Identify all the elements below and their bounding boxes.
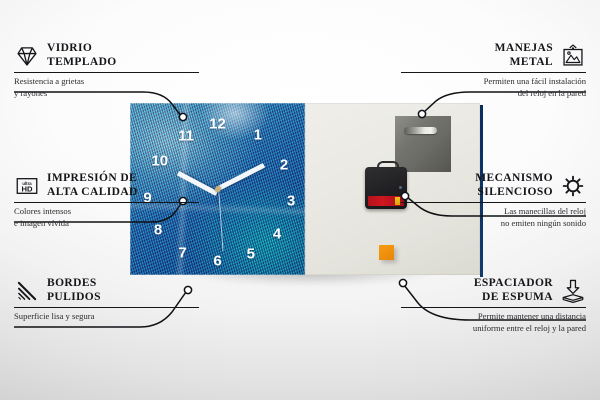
callout-rule	[401, 307, 586, 308]
diamond-icon	[14, 43, 40, 69]
clock-numeral-7: 7	[178, 245, 186, 260]
gear-icon	[560, 173, 586, 199]
callout-desc: Permite mantener una distancia uniforme …	[401, 311, 586, 334]
infographic-canvas: 12 1 2 3 4 5 6 7 8 9 10 11	[0, 0, 600, 400]
callout-espaciador-espuma[interactable]: ESPACIADOR DE ESPUMA Permite mantener un…	[401, 277, 586, 334]
callout-desc: Colores intensos e imagen vívida	[14, 206, 199, 229]
clock-numeral-12: 12	[209, 116, 226, 131]
foam-spacer	[379, 245, 394, 260]
callout-rule	[401, 202, 586, 203]
callout-desc: Permiten una fácil instalación del reloj…	[401, 76, 586, 99]
picture-frame-hook-icon	[560, 43, 586, 69]
mechanism-loop	[377, 161, 399, 172]
callout-rule	[14, 307, 199, 308]
clock-numeral-4: 4	[273, 226, 281, 241]
callout-manejas-metal[interactable]: MANEJAS METAL Permiten una fácil instala…	[401, 42, 586, 99]
callout-head: BORDES PULIDOS	[14, 277, 199, 304]
down-arrow-layer-icon	[560, 278, 586, 304]
callout-head: MANEJAS METAL	[401, 42, 586, 69]
callout-vidrio-templado[interactable]: VIDRIO TEMPLADO Resistencia a grietas y …	[14, 42, 199, 99]
callout-desc: Las manecillas del reloj no emiten ningú…	[401, 206, 586, 229]
ultra-hd-icon: ultra HD	[14, 173, 40, 199]
callout-desc: Superficie lisa y segura	[14, 311, 199, 323]
callout-title: MECANISMO SILENCIOSO	[475, 172, 553, 199]
clock-numeral-2: 2	[280, 157, 288, 172]
clock-numeral-3: 3	[287, 194, 295, 209]
clock-center-cap	[215, 186, 221, 192]
battery-label	[368, 196, 404, 206]
clock-minute-hand	[215, 163, 264, 192]
callout-rule	[14, 202, 199, 203]
ultra-hd-icon-large-text: HD	[21, 184, 33, 193]
metal-hanger	[395, 116, 451, 172]
callout-head: MECANISMO SILENCIOSO	[401, 172, 586, 199]
clock-numeral-6: 6	[213, 254, 221, 269]
callout-title: BORDES PULIDOS	[47, 277, 101, 304]
callout-impresion-alta-calidad[interactable]: ultra HD IMPRESIÓN DE ALTA CALIDAD Color…	[14, 172, 199, 229]
callout-title: VIDRIO TEMPLADO	[47, 42, 117, 69]
callout-rule	[401, 72, 586, 73]
callout-title: MANEJAS METAL	[495, 42, 553, 69]
callout-mecanismo-silencioso[interactable]: MECANISMO SILENCIOSO Las manecillas del …	[401, 172, 586, 229]
callout-head: ultra HD IMPRESIÓN DE ALTA CALIDAD	[14, 172, 199, 199]
hanger-slot	[404, 127, 437, 134]
clock-numeral-5: 5	[247, 247, 255, 262]
diagonal-lines-icon	[14, 278, 40, 304]
clock-numeral-11: 11	[178, 128, 194, 143]
clock-second-hand	[218, 190, 224, 252]
callout-head: VIDRIO TEMPLADO	[14, 42, 199, 69]
callout-rule	[14, 72, 199, 73]
callout-title: ESPACIADOR DE ESPUMA	[474, 277, 553, 304]
clock-numeral-1: 1	[254, 127, 262, 142]
callout-title: IMPRESIÓN DE ALTA CALIDAD	[47, 172, 138, 199]
callout-bordes-pulidos[interactable]: BORDES PULIDOS Superficie lisa y segura	[14, 277, 199, 323]
callout-head: ESPACIADOR DE ESPUMA	[401, 277, 586, 304]
clock-numeral-10: 10	[151, 154, 168, 169]
callout-desc: Resistencia a grietas y rayones	[14, 76, 199, 99]
